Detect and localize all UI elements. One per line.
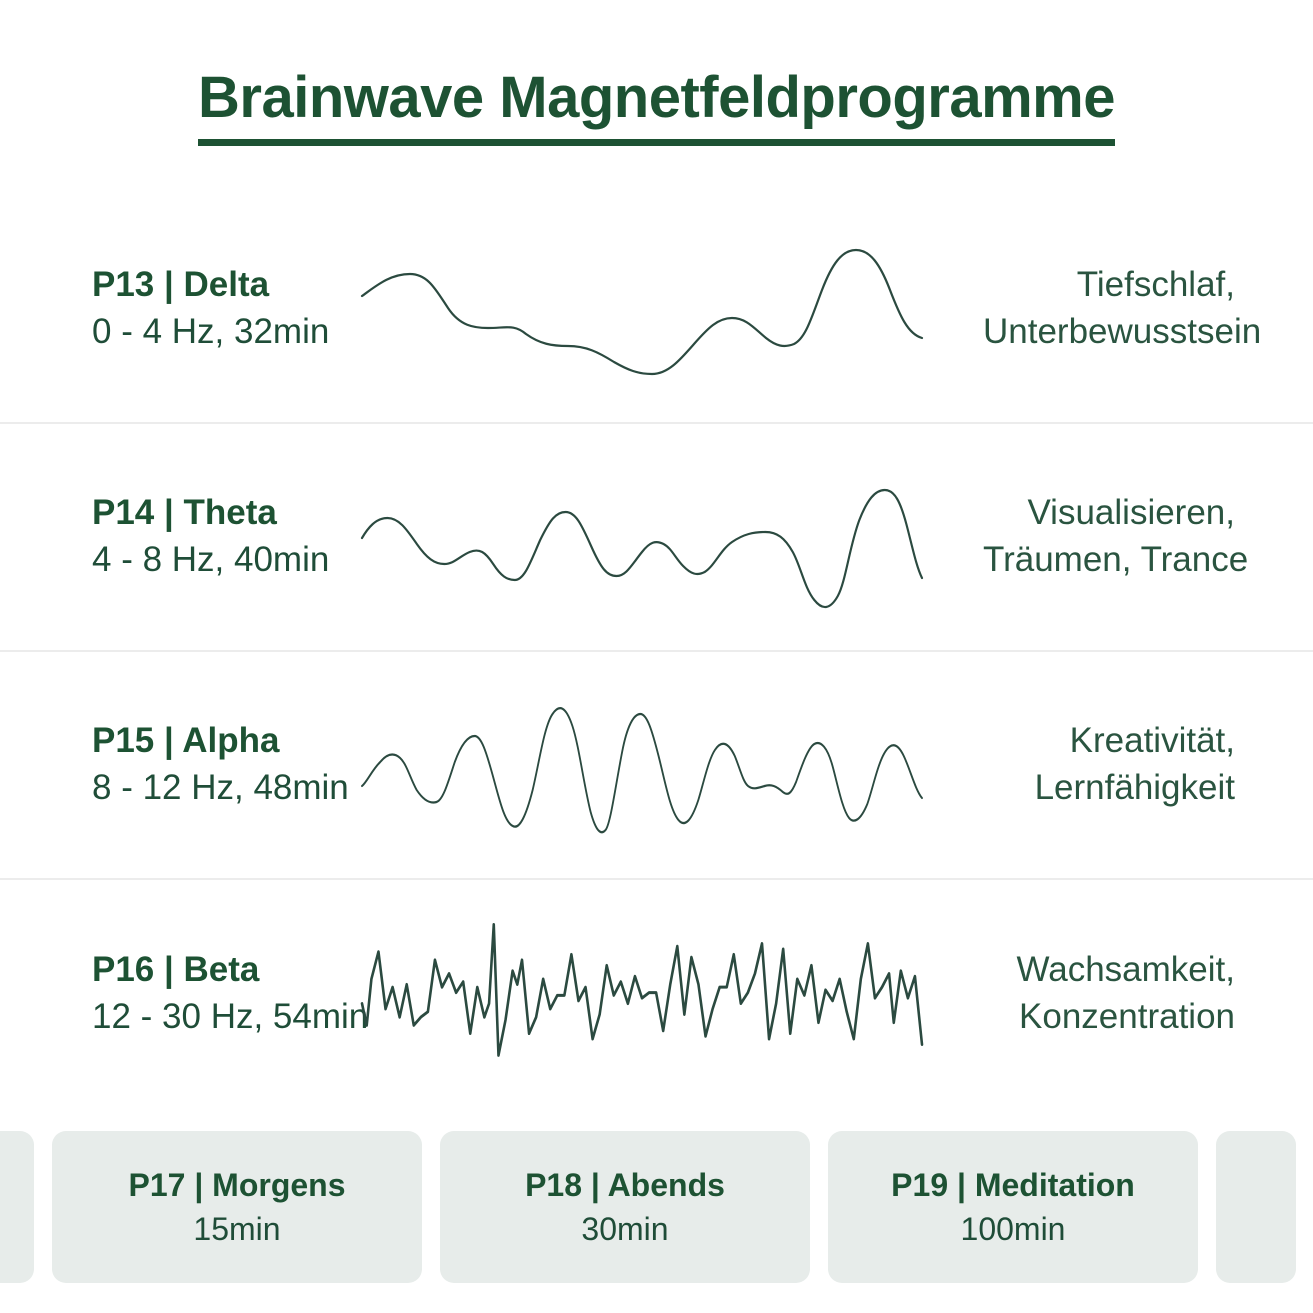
program-info-alpha: P15 | Alpha 8 - 12 Hz, 48min [0, 718, 300, 812]
program-meta: 4 - 8 Hz, 40min [92, 537, 300, 584]
program-effect-line-2: Lernfähigkeit [983, 765, 1235, 812]
program-row-beta[interactable]: P16 | Beta 12 - 30 Hz, 54min Wachsamkeit… [0, 880, 1313, 1108]
program-meta: 0 - 4 Hz, 32min [92, 309, 300, 356]
program-card-p18[interactable]: P18 | Abends 30min [440, 1131, 810, 1283]
program-effect-line-1: Tiefschlaf, [983, 262, 1235, 309]
program-rows: P13 | Delta 0 - 4 Hz, 32min Tiefschlaf, … [0, 196, 1313, 1108]
card-partial-previous[interactable] [0, 1131, 34, 1283]
program-effect-line-2: Unterbewusstsein [983, 309, 1235, 356]
page-title: Brainwave Magnetfeldprogramme [198, 68, 1115, 146]
program-name: P13 | Delta [92, 262, 300, 309]
program-meta: 12 - 30 Hz, 54min [92, 994, 300, 1041]
program-effect-beta: Wachsamkeit, Konzentration [983, 947, 1313, 1041]
program-effect-delta: Tiefschlaf, Unterbewusstsein [983, 262, 1313, 356]
program-name: P16 | Beta [92, 947, 300, 994]
delta-waveform-path [362, 250, 922, 374]
card-duration: 15min [193, 1208, 280, 1250]
page-title-container: Brainwave Magnetfeldprogramme [0, 68, 1313, 146]
program-effect-line-1: Kreativität, [983, 718, 1235, 765]
theta-waveform-path [362, 490, 922, 607]
program-effect-line-1: Visualisieren, [983, 490, 1235, 537]
card-duration: 100min [961, 1208, 1066, 1250]
card-title: P19 | Meditation [891, 1164, 1135, 1206]
theta-waveform [300, 457, 983, 617]
program-name: P14 | Theta [92, 490, 300, 537]
program-effect-alpha: Kreativität, Lernfähigkeit [983, 718, 1313, 812]
delta-waveform [300, 229, 983, 389]
beta-waveform [300, 914, 983, 1074]
program-info-delta: P13 | Delta 0 - 4 Hz, 32min [0, 262, 300, 356]
program-card-p19[interactable]: P19 | Meditation 100min [828, 1131, 1198, 1283]
program-card-p17[interactable]: P17 | Morgens 15min [52, 1131, 422, 1283]
brainwave-program-list: Brainwave Magnetfeldprogramme P13 | Delt… [0, 0, 1313, 1313]
program-effect-line-1: Wachsamkeit, [983, 947, 1235, 994]
program-name: P15 | Alpha [92, 718, 300, 765]
program-info-theta: P14 | Theta 4 - 8 Hz, 40min [0, 490, 300, 584]
program-effect-line-2: Träumen, Trance [983, 537, 1235, 584]
program-card-carousel[interactable]: P17 | Morgens 15min P18 | Abends 30min P… [0, 1117, 1313, 1297]
program-row-theta[interactable]: P14 | Theta 4 - 8 Hz, 40min Visualisiere… [0, 424, 1313, 652]
alpha-waveform-path [362, 708, 922, 832]
card-duration: 30min [581, 1208, 668, 1250]
program-row-delta[interactable]: P13 | Delta 0 - 4 Hz, 32min Tiefschlaf, … [0, 196, 1313, 424]
program-effect-theta: Visualisieren, Träumen, Trance [983, 490, 1313, 584]
program-meta: 8 - 12 Hz, 48min [92, 765, 300, 812]
program-info-beta: P16 | Beta 12 - 30 Hz, 54min [0, 947, 300, 1041]
program-row-alpha[interactable]: P15 | Alpha 8 - 12 Hz, 48min Kreativität… [0, 652, 1313, 880]
card-partial-next[interactable] [1216, 1131, 1296, 1283]
beta-waveform-path [362, 924, 922, 1055]
card-title: P17 | Morgens [128, 1164, 345, 1206]
program-effect-line-2: Konzentration [983, 994, 1235, 1041]
alpha-waveform [300, 685, 983, 845]
card-title: P18 | Abends [525, 1164, 725, 1206]
